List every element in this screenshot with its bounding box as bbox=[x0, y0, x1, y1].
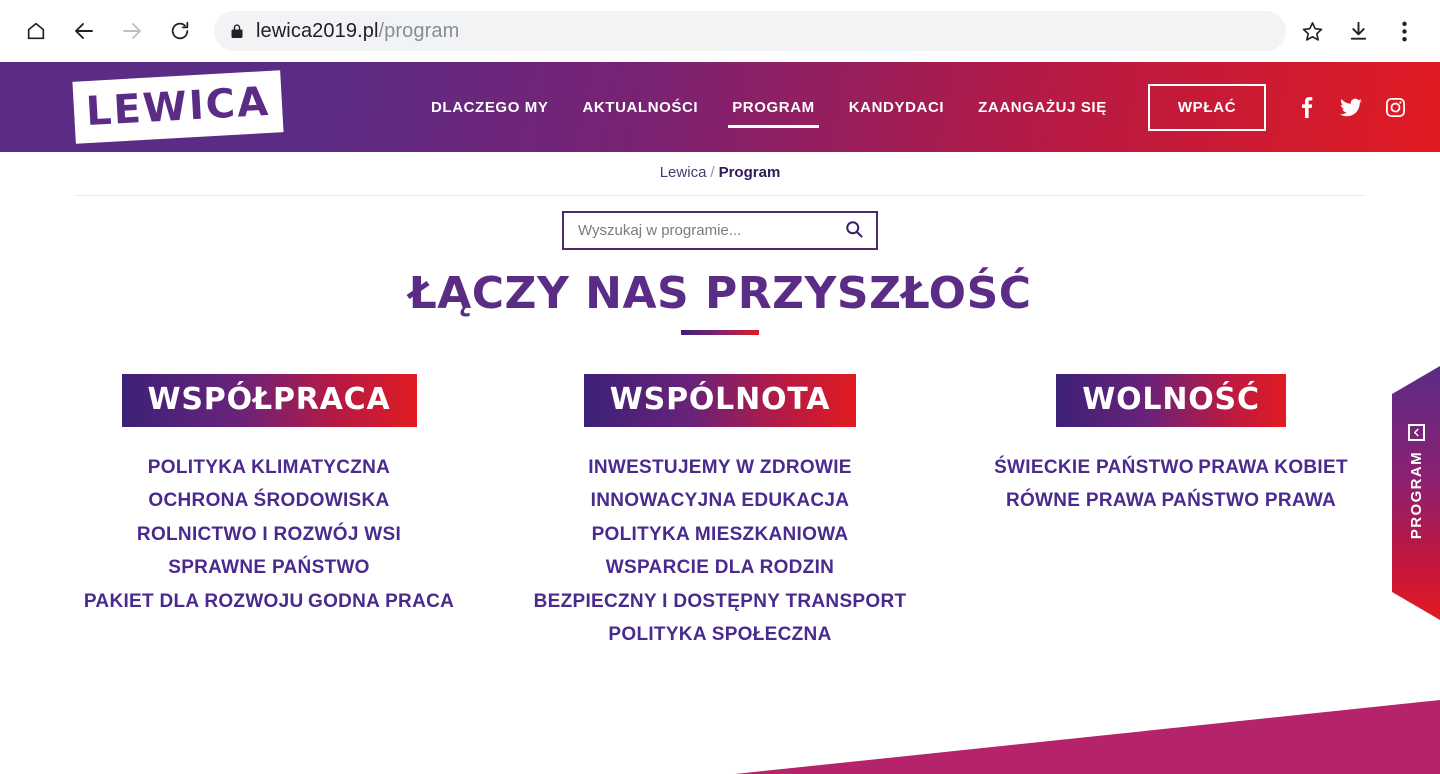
list-item[interactable]: POLITYKA KLIMATYCZNA bbox=[148, 457, 390, 478]
column-heading: WSPÓLNOTA bbox=[584, 374, 856, 427]
list-item[interactable]: SPRAWNE PAŃSTWO bbox=[168, 557, 370, 578]
chrome-actions bbox=[1290, 9, 1426, 53]
back-arrow-icon[interactable] bbox=[62, 9, 106, 53]
program-column-wolnosc: WOLNOŚĆ ŚWIECKIE PAŃSTWO PRAWA KOBIET RÓ… bbox=[976, 374, 1366, 652]
list-item[interactable]: INNOWACYJNA EDUKACJA bbox=[591, 490, 850, 511]
list-item[interactable]: ROLNICTWO I ROZWÓJ WSI bbox=[137, 524, 401, 545]
list-item[interactable]: POLITYKA SPOŁECZNA bbox=[608, 624, 831, 645]
three-dot-menu-icon[interactable] bbox=[1382, 9, 1426, 53]
search-icon bbox=[844, 219, 864, 242]
list-item[interactable]: POLITYKA MIESZKANIOWA bbox=[592, 524, 849, 545]
url-path: /program bbox=[379, 20, 460, 42]
bottom-decoration bbox=[0, 690, 1440, 774]
breadcrumb: Lewica/Program bbox=[0, 164, 1440, 181]
star-icon[interactable] bbox=[1290, 9, 1334, 53]
program-column-wspolnota: WSPÓLNOTA INWESTUJEMY W ZDROWIE INNOWACY… bbox=[525, 374, 915, 652]
list-item[interactable]: OCHRONA ŚRODOWISKA bbox=[148, 490, 389, 511]
list-item[interactable]: BEZPIECZNY I DOSTĘPNY TRANSPORT bbox=[534, 591, 907, 612]
logo-text: LEWICA bbox=[85, 79, 271, 135]
site-header: LEWICA DLACZEGO MY AKTUALNOŚCI PROGRAM K… bbox=[0, 62, 1440, 152]
url-text: lewica2019.pl/program bbox=[256, 20, 459, 43]
header-divider bbox=[74, 195, 1366, 196]
chevron-left-icon bbox=[1408, 424, 1425, 441]
address-bar[interactable]: lewica2019.pl/program bbox=[214, 11, 1286, 51]
program-column-wspolpraca: WSPÓŁPRACA POLITYKA KLIMATYCZNA OCHRONA … bbox=[74, 374, 464, 652]
column-links: POLITYKA KLIMATYCZNA OCHRONA ŚRODOWISKA … bbox=[74, 451, 464, 619]
list-item[interactable]: PAŃSTWO PRAWA bbox=[1161, 490, 1336, 511]
column-links: INWESTUJEMY W ZDROWIE INNOWACYJNA EDUKAC… bbox=[525, 451, 915, 653]
nav-item-dlaczego-my[interactable]: DLACZEGO MY bbox=[414, 62, 565, 152]
search-submit-button[interactable] bbox=[832, 213, 876, 248]
breadcrumb-separator: / bbox=[710, 164, 714, 181]
list-item[interactable]: PRAWA KOBIET bbox=[1198, 457, 1348, 478]
download-icon[interactable] bbox=[1336, 9, 1380, 53]
nav-item-program[interactable]: PROGRAM bbox=[715, 62, 832, 152]
nav-item-aktualnosci[interactable]: AKTUALNOŚCI bbox=[565, 62, 715, 152]
url-domain: lewica2019.pl bbox=[256, 20, 379, 42]
title-underline-rule bbox=[681, 330, 759, 335]
list-item[interactable]: RÓWNE PRAWA bbox=[1006, 490, 1157, 511]
breadcrumb-current-program: Program bbox=[719, 164, 781, 181]
page-title: ŁĄCZY NAS PRZYSZŁOŚĆ bbox=[0, 268, 1440, 319]
list-item[interactable]: INWESTUJEMY W ZDROWIE bbox=[588, 457, 852, 478]
nav-item-zaangazuj-sie[interactable]: ZAANGAŻUJ SIĘ bbox=[961, 62, 1124, 152]
search-input[interactable] bbox=[564, 213, 832, 248]
instagram-icon[interactable] bbox=[1384, 96, 1406, 118]
breadcrumb-link-lewica[interactable]: Lewica bbox=[660, 164, 707, 181]
list-item[interactable]: PAKIET DLA ROZWOJU bbox=[84, 591, 304, 612]
column-heading: WOLNOŚĆ bbox=[1056, 374, 1286, 427]
program-columns: WSPÓŁPRACA POLITYKA KLIMATYCZNA OCHRONA … bbox=[74, 374, 1366, 652]
social-links bbox=[1296, 96, 1406, 118]
column-links: ŚWIECKIE PAŃSTWO PRAWA KOBIET RÓWNE PRAW… bbox=[976, 451, 1366, 518]
facebook-icon[interactable] bbox=[1296, 96, 1318, 118]
main-navigation: DLACZEGO MY AKTUALNOŚCI PROGRAM KANDYDAC… bbox=[414, 62, 1406, 152]
lock-icon bbox=[230, 23, 244, 39]
side-tab-label: PROGRAM bbox=[1408, 451, 1425, 539]
side-tab-program[interactable]: PROGRAM bbox=[1392, 366, 1440, 620]
reload-icon[interactable] bbox=[158, 9, 202, 53]
browser-toolbar: lewica2019.pl/program bbox=[0, 0, 1440, 62]
column-heading: WSPÓŁPRACA bbox=[122, 374, 417, 427]
twitter-icon[interactable] bbox=[1340, 96, 1362, 118]
list-item[interactable]: ŚWIECKIE PAŃSTWO bbox=[994, 457, 1194, 478]
list-item[interactable]: GODNA PRACA bbox=[308, 591, 454, 612]
home-icon[interactable] bbox=[14, 9, 58, 53]
forward-arrow-icon bbox=[110, 9, 154, 53]
site-logo[interactable]: LEWICA bbox=[72, 70, 283, 144]
donate-button[interactable]: WPŁAĆ bbox=[1148, 84, 1267, 131]
list-item[interactable]: WSPARCIE DLA RODZIN bbox=[606, 557, 834, 578]
nav-item-kandydaci[interactable]: KANDYDACI bbox=[832, 62, 961, 152]
program-search[interactable] bbox=[562, 211, 878, 250]
